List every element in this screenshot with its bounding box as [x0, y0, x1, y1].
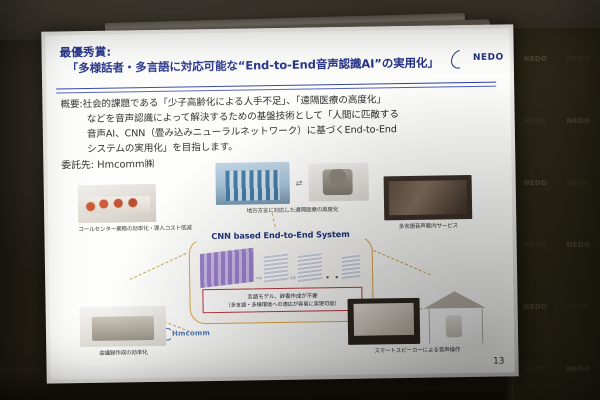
output-layer-icon [342, 253, 360, 279]
cnn-system-title: CNN based End-to-End System [189, 229, 371, 242]
summary-paragraph: 概要:社会的課題である「少子高齢化による人手不足」、「遠隔医療の高度化」 などを… [60, 91, 497, 158]
nedo-backdrop-banner: NEDO NEDO NEDO NEDO NEDO NEDO NEDO NEDO … [514, 28, 600, 400]
caption-smart-speaker: スマートスピーカーによる音声操作 [348, 345, 486, 355]
nedo-backdrop-logo: NEDO [566, 365, 590, 373]
cnn-architecture-graphic: ⇨ ⇨ • • • [200, 249, 363, 286]
key-benefit-note: 言語モデル、辞書作成が不要 （多言語・多様環境への適応が容易に実現可能） [202, 287, 362, 314]
house-illustration [423, 291, 486, 344]
slide-title-block: 最優秀賞: 「多様話者・多言語に対応可能な“End-to-End音声認識AI”の… [59, 39, 489, 77]
guide-service-photo [384, 175, 473, 220]
nedo-backdrop-logo: NEDO [566, 55, 590, 63]
caption-multilingual-guide: 多言語音声案内サービス [384, 221, 472, 230]
connector-line [373, 250, 430, 275]
nedo-backdrop-logo: NEDO [523, 365, 547, 373]
smart-speaker-photo [347, 298, 420, 345]
input-spectrogram-icon [200, 248, 254, 289]
nedo-backdrop-logo: NEDO [523, 117, 547, 125]
nedo-logo: NEDO [473, 52, 504, 62]
conv-layer-icon [264, 252, 288, 283]
arrow-right-icon: ⇨ [290, 274, 296, 282]
client-line: 委託先: Hmcomm㈱ [61, 156, 154, 171]
call-center-photo [78, 184, 157, 223]
caption-telemedicine: 地方方言に対応した遠隔医療の高度化 [216, 205, 369, 215]
cnn-system-box: CNN based End-to-End System ⇨ ⇨ • • • 言語… [189, 236, 374, 325]
usecase-meeting-minutes: 会議録作成の効率化 [80, 306, 167, 357]
meeting-photo [80, 306, 167, 347]
photo-scene: NEDO NEDO NEDO NEDO NEDO NEDO NEDO NEDO … [0, 0, 600, 400]
exchange-arrow-icon: ⇄ [296, 178, 303, 187]
hmcomm-logo: Hmcomm [172, 329, 210, 338]
usecase-multilingual-guide: 多言語音声案内サービス [384, 175, 473, 230]
nedo-backdrop-logo: NEDO [523, 179, 547, 187]
nedo-backdrop-logo: NEDO [523, 55, 547, 63]
nedo-backdrop-logo: NEDO [566, 241, 590, 249]
presentation-slide: 最優秀賞: 「多様話者・多言語に対応可能な“End-to-End音声認識AI”の… [45, 28, 514, 379]
nedo-backdrop-logo: NEDO [523, 241, 547, 249]
conv-layer-icon [298, 251, 322, 282]
nedo-backdrop-logo: NEDO [566, 117, 590, 125]
nedo-backdrop-logo: NEDO [523, 303, 547, 311]
arrow-right-icon: ⇨ [256, 274, 262, 282]
caption-meeting-minutes: 会議録作成の効率化 [80, 348, 166, 357]
page-number: 13 [493, 356, 505, 366]
usecase-smart-speaker: スマートスピーカーによる音声操作 [347, 291, 486, 355]
house-roof-icon [423, 291, 485, 309]
doctor-photo [308, 163, 369, 202]
nedo-backdrop-logo: NEDO [566, 303, 590, 311]
key-benefit-line2: （多言語・多様環境への適応が容易に実現可能） [204, 300, 362, 309]
caption-call-center: コールセンター業務の効率化・導入コスト低減 [78, 223, 191, 233]
connector-line [130, 253, 187, 280]
nedo-backdrop-logo: NEDO [566, 179, 590, 187]
usecase-call-center: コールセンター業務の効率化・導入コスト低減 [78, 183, 192, 233]
speaker-device-icon [446, 315, 462, 337]
projection-screen: 最優秀賞: 「多様話者・多言語に対応可能な“End-to-End音声認識AI”の… [41, 24, 518, 383]
usecase-telemedicine: ⇄ 地方方言に対応した遠隔医療の高度化 [215, 161, 369, 215]
hospital-photo [215, 162, 290, 205]
